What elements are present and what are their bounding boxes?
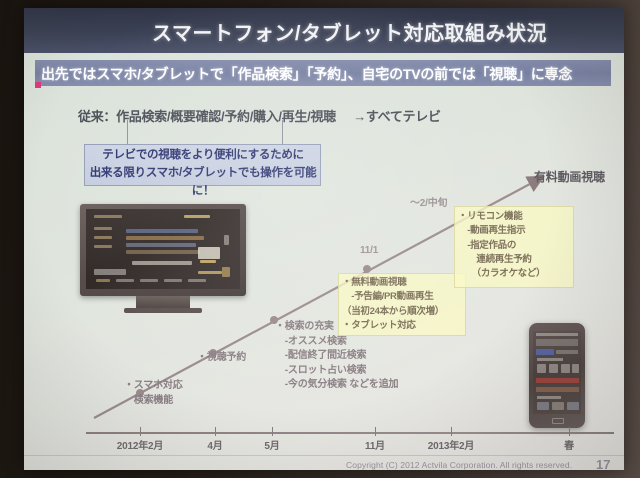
axis-tick-2: [272, 427, 273, 436]
legacy-connector-right: [282, 120, 283, 144]
slide-title: スマートフォン/タブレット対応取組み状況: [152, 17, 547, 46]
timeline-axis: [86, 432, 614, 434]
milestone-dot-4: [363, 265, 371, 273]
free-video-line-3: （当初24本から順次増）: [342, 305, 444, 319]
axis-tick-3: [375, 427, 376, 436]
axis-tick-5: [569, 427, 570, 436]
subtitle-text: 出先ではスマホ/タブレットで「作品検索」「予約」、自宅のTVの前では「視聴」に専…: [41, 64, 572, 84]
presentation-slide: スマートフォン/タブレット対応取組み状況 出先ではスマホ/タブレットで「作品検索…: [24, 8, 624, 470]
annotation-search-enhancement-line-4: -スロット占い検索: [275, 364, 398, 379]
free-video-line-1: ・無料動画視聴: [342, 276, 444, 290]
date-marker-11-1: 11/1: [360, 245, 378, 256]
legacy-flow-text: 従来：作品検索/概要確認/予約/購入/再生/視聴: [78, 109, 336, 124]
annotation-smartphone-search-line-1: ・スマホ対応: [124, 379, 183, 394]
copyright-text: Copyright (C) 2012 Actvila Corporation. …: [346, 460, 572, 470]
axis-tick-0: [140, 427, 141, 436]
remote-control-line-3: -指定作品の: [458, 239, 545, 253]
remote-control-line-4: 連続再生予約: [458, 253, 545, 267]
axis-tick-4: [451, 427, 452, 436]
free-video-line-4: ・タブレット対応: [342, 319, 444, 333]
annotation-viewing-reservation-line-1: ・視聴予約: [197, 351, 246, 366]
axis-label-5: 春: [564, 437, 574, 452]
legacy-flow-arrow-text: →すべてテレビ: [353, 109, 440, 124]
screenshot-root: スマートフォン/タブレット対応取組み状況 出先ではスマホ/タブレットで「作品検索…: [0, 0, 640, 478]
remote-control-line-2: -動画再生指示: [458, 224, 545, 238]
free-video-line-2: -予告編/PR動画再生: [342, 290, 444, 304]
page-number: 17: [596, 457, 610, 470]
annotation-search-enhancement-line-2: -オススメ検索: [275, 335, 398, 350]
axis-label-0: 2012年2月: [117, 437, 163, 452]
remote-control-line-5: （カラオケなど）: [458, 267, 545, 281]
callout-line-1: テレビでの視聴をより便利にするために: [87, 147, 319, 165]
annotation-smartphone-search: ・スマホ対応 検索機能: [124, 379, 183, 408]
date-marker-feb-mid: 〜2/中旬: [410, 194, 447, 209]
goal-label: 有料動画視聴: [534, 168, 605, 185]
footer-divider: [24, 455, 624, 456]
annotation-smartphone-search-line-2: 検索機能: [124, 394, 183, 409]
remote-control-line-1: ・リモコン機能: [458, 210, 545, 224]
axis-label-4: 2013年2月: [428, 437, 474, 452]
axis-label-3: 11月: [365, 437, 385, 452]
free-video-box-text: ・無料動画視聴 -予告編/PR動画再生 （当初24本から順次増） ・タブレット対…: [342, 276, 444, 333]
annotation-search-enhancement-line-3: -配信終了間近検索: [275, 349, 398, 364]
legacy-flow-row: 従来：作品検索/概要確認/予約/購入/再生/視聴 →すべてテレビ: [78, 106, 441, 125]
legacy-connector-left: [127, 120, 128, 144]
remote-control-box-text: ・リモコン機能 -動画再生指示 -指定作品の 連続再生予約 （カラオケなど）: [458, 210, 545, 281]
axis-tick-1: [215, 427, 216, 436]
axis-label-2: 5月: [264, 437, 279, 452]
axis-label-1: 4月: [207, 437, 222, 452]
annotation-search-enhancement-line-5: -今の気分検索 などを追加: [275, 378, 398, 393]
annotation-viewing-reservation: ・視聴予約: [197, 351, 246, 366]
